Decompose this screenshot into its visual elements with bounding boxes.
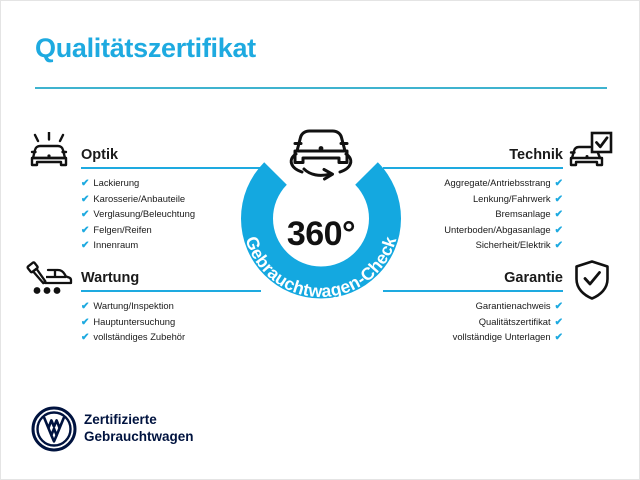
list-item-label: Felgen/Reifen	[93, 224, 151, 235]
vw-logo	[31, 406, 77, 457]
check-icon: ✔	[555, 209, 563, 220]
title-divider	[35, 87, 607, 89]
check-icon: ✔	[81, 194, 89, 205]
list-item-label: vollständige Unterlagen	[453, 331, 551, 342]
wrench-car-icon	[25, 258, 73, 303]
list-item: ✔Hauptuntersuchung	[81, 315, 261, 331]
check-icon: ✔	[81, 209, 89, 220]
list-item-label: Wartung/Inspektion	[93, 300, 173, 311]
check-icon: ✔	[81, 317, 89, 328]
check-icon: ✔	[555, 301, 563, 312]
list-item: ✔vollständiges Zubehör	[81, 330, 261, 346]
page-title: Qualitätszertifikat	[35, 33, 256, 64]
list-item-label: Verglasung/Beleuchtung	[93, 208, 195, 219]
footer-brand-text: Zertifizierte Gebrauchtwagen	[84, 411, 194, 445]
check-icon: ✔	[81, 240, 89, 251]
footer-line-1: Zertifizierte	[84, 411, 194, 428]
list-item-label: Sicherheit/Elektrik	[476, 239, 551, 250]
list-item: Qualitätszertifikat✔	[383, 315, 563, 331]
check-icon: ✔	[555, 194, 563, 205]
check-icon: ✔	[81, 301, 89, 312]
list-item-label: Hauptuntersuchung	[93, 316, 175, 327]
list-item-label: Lackierung	[93, 177, 139, 188]
shield-check-icon	[573, 259, 611, 306]
check-icon: ✔	[555, 178, 563, 189]
check-icon: ✔	[555, 225, 563, 236]
list-item-label: Innenraum	[93, 239, 138, 250]
list-item-label: vollständiges Zubehör	[93, 331, 185, 342]
list-item-label: Lenkung/Fahrwerk	[473, 193, 551, 204]
list-item: vollständige Unterlagen✔	[383, 330, 563, 346]
list-item-label: Bremsanlage	[495, 208, 550, 219]
shiny-car-icon	[27, 132, 71, 177]
certificate-page: Qualitätszertifikat Optik ✔Lackierung ✔K…	[0, 0, 640, 480]
badge-center-label: 360°	[223, 215, 419, 254]
check-icon: ✔	[81, 332, 89, 343]
list-item-label: Aggregate/Antriebsstrang	[444, 177, 550, 188]
check-icon: ✔	[555, 317, 563, 328]
list-item-label: Qualitätszertifikat	[479, 316, 551, 327]
check-icon: ✔	[81, 178, 89, 189]
list-item-label: Unterboden/Abgasanlage	[444, 224, 550, 235]
list-item-label: Garantienachweis	[476, 300, 551, 311]
list-item-label: Karosserie/Anbauteile	[93, 193, 185, 204]
car-checkbox-icon	[567, 131, 613, 178]
check-icon: ✔	[555, 240, 563, 251]
check-icon: ✔	[555, 332, 563, 343]
check-icon: ✔	[81, 225, 89, 236]
badge-360-gebrauchtwagen-check: Gebrauchtwagen-Check 360°	[223, 111, 419, 311]
footer-line-2: Gebrauchtwagen	[84, 428, 194, 445]
